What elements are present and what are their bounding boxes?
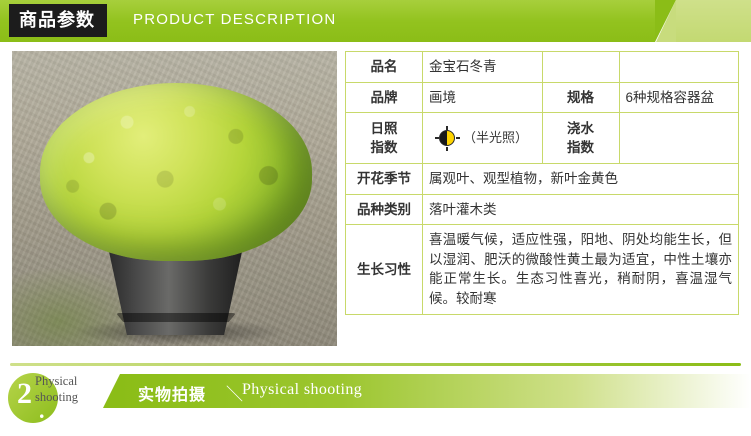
row-label-watering-line1: 浇水 [549,119,613,139]
row-label-category: 品种类别 [346,194,423,225]
table-row: 品种类别 落叶灌木类 [346,194,739,225]
photo-plant-foliage-texture [40,83,312,261]
row-value-spec: 6种规格容器盆 [619,82,739,113]
header-title-black-box: 商品参数 [9,4,107,37]
row-label-sunlight: 日照 指数 [346,113,423,164]
table-row: 开花季节 属观叶、观型植物，新叶金黄色 [346,164,739,195]
row-label-brand: 品牌 [346,82,423,113]
row-value-growth-habit: 喜温暖气候，适应性强，阳地、阴处均能生长，但以湿润、肥沃的微酸性黄土最为适宜，中… [423,225,739,314]
row-value-empty [619,52,739,83]
row-value-bloom-season: 属观叶、观型植物，新叶金黄色 [423,164,739,195]
half-sun-icon [437,128,457,148]
spec-table-wrapper: 品名 金宝石冬青 品牌 画境 规格 6种规格容器盆 日照 指数 [345,51,739,315]
header-light-tail [676,0,751,42]
row-label-growth-habit: 生长习性 [346,225,423,314]
footer-step-label-en: Physical shooting [35,374,115,405]
footer-step-label-en-line1: Physical [35,374,115,390]
product-photo [12,51,337,346]
product-description-page: 商品参数 PRODUCT DESCRIPTION 品名 金宝石冬青 品 [0,0,751,436]
row-value-category: 落叶灌木类 [423,194,739,225]
row-label-watering-line2: 指数 [549,138,613,158]
footer-title-separator: ＼ [226,380,243,405]
row-label-bloom-season: 开花季节 [346,164,423,195]
row-label-sunlight-line1: 日照 [352,119,416,139]
footer-divider [10,363,741,366]
header-title-cn: 商品参数 [19,4,95,37]
row-label-name: 品名 [346,52,423,83]
footer-title-en: Physical shooting [242,381,362,399]
table-row: 日照 指数 （半光照） [346,113,739,164]
row-value-watering [619,113,739,164]
row-value-sunlight-text: （半光照） [463,129,528,148]
table-row: 品名 金宝石冬青 [346,52,739,83]
spec-table: 品名 金宝石冬青 品牌 画境 规格 6种规格容器盆 日照 指数 [345,51,739,315]
row-value-sunlight: （半光照） [423,113,543,164]
row-label-empty [542,52,619,83]
header-title-en: PRODUCT DESCRIPTION [133,11,336,28]
footer-step-label-en-line2: shooting [35,390,115,406]
row-value-brand: 画境 [423,82,543,113]
row-label-watering: 浇水 指数 [542,113,619,164]
photo-pot-ridge [116,313,236,322]
table-row: 品牌 画境 规格 6种规格容器盆 [346,82,739,113]
section-footer: 2 . Physical shooting 实物拍摄 ＼ Physical sh… [0,361,751,423]
row-label-spec: 规格 [542,82,619,113]
table-row: 生长习性 喜温暖气候，适应性强，阳地、阴处均能生长，但以湿润、肥沃的微酸性黄土最… [346,225,739,314]
row-value-name: 金宝石冬青 [423,52,543,83]
section-header: 商品参数 PRODUCT DESCRIPTION [0,0,751,42]
row-label-sunlight-line2: 指数 [352,138,416,158]
footer-green-bar [120,374,751,408]
footer-title-cn: 实物拍摄 [138,381,206,405]
footer-step-number: 2 [17,379,32,409]
